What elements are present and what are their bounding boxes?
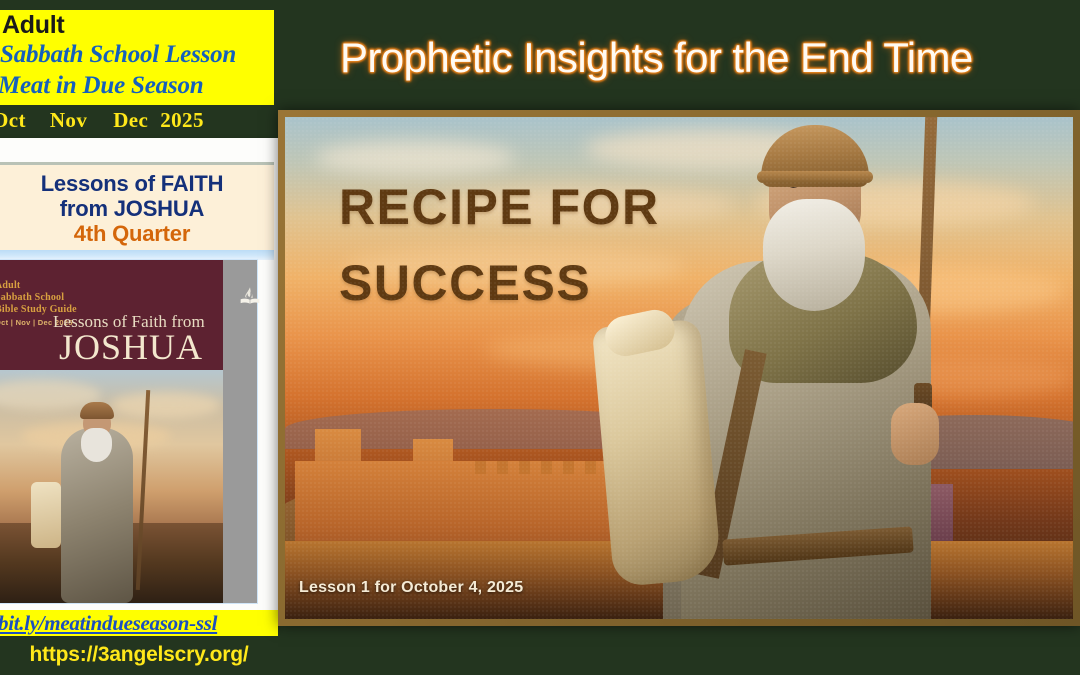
book-cover-title: JOSHUA bbox=[59, 328, 203, 366]
figure-helmet-rim bbox=[757, 171, 873, 183]
quarter-months-row: OctNovDec2025 bbox=[0, 108, 278, 133]
book-cover-thumbnail[interactable]: Adult Sabbath School Bible Study Guide O… bbox=[0, 259, 258, 604]
masthead-line-adult: Adult bbox=[0, 12, 274, 39]
slide-headline-line1: RECIPE FOR bbox=[339, 179, 660, 235]
bitly-link-banner[interactable]: bit.ly/meatindueseason-ssl bbox=[0, 610, 278, 636]
book-imprint-line1: Adult bbox=[0, 280, 20, 291]
lesson-quarter-label: 4th Quarter bbox=[0, 221, 274, 247]
month-oct: Oct bbox=[0, 108, 26, 133]
months-year: 2025 bbox=[160, 108, 204, 133]
sidebar-panel: Adult Sabbath School Lesson Meat in Due … bbox=[0, 0, 278, 675]
figure-beard bbox=[763, 199, 865, 311]
page-title: Prophetic Insights for the End Time bbox=[340, 34, 1080, 82]
slide-headline-line2: SUCCESS bbox=[339, 245, 660, 321]
seventh-day-adventist-logo-icon bbox=[239, 286, 261, 306]
slide-headline: RECIPE FOR SUCCESS bbox=[339, 169, 660, 321]
slide-image-frame[interactable]: RECIPE FOR SUCCESS Lesson 1 for October … bbox=[278, 110, 1080, 626]
slide-illustration: RECIPE FOR SUCCESS Lesson 1 for October … bbox=[285, 117, 1073, 619]
lesson-title-line1: Lessons of FAITH bbox=[0, 171, 274, 196]
book-imprint-line2: Sabbath School bbox=[0, 292, 64, 303]
figure-scroll bbox=[592, 319, 722, 587]
book-cover-illustration bbox=[0, 370, 223, 603]
month-dec: Dec bbox=[113, 108, 148, 133]
website-url-link[interactable]: https://3angelscry.org/ bbox=[0, 640, 278, 670]
lesson-title-card: Lessons of FAITH from JOSHUA 4th Quarter bbox=[0, 162, 274, 250]
masthead-line-meat-in-due-season: Meat in Due Season bbox=[0, 70, 274, 101]
slide-presentation-stage: Adult Sabbath School Lesson Meat in Due … bbox=[0, 0, 1080, 675]
book-art-scroll bbox=[31, 482, 61, 548]
book-art-figure-beard bbox=[81, 428, 112, 462]
slide-lesson-caption: Lesson 1 for October 4, 2025 bbox=[299, 579, 523, 597]
lesson-title-line2: from JOSHUA bbox=[0, 196, 274, 221]
book-art-figure-helmet bbox=[80, 402, 114, 419]
figure-hand bbox=[891, 403, 939, 465]
joshua-figure bbox=[633, 117, 1053, 619]
bitly-link-text[interactable]: bit.ly/meatindueseason-ssl bbox=[0, 611, 217, 636]
masthead-line-sabbath-school-lesson: Sabbath School Lesson bbox=[0, 39, 274, 70]
masthead-banner: Adult Sabbath School Lesson Meat in Due … bbox=[0, 10, 274, 105]
book-cover-front: Adult Sabbath School Bible Study Guide O… bbox=[0, 260, 223, 603]
book-cover-side-panel bbox=[223, 260, 257, 603]
month-nov: Nov bbox=[50, 108, 87, 133]
